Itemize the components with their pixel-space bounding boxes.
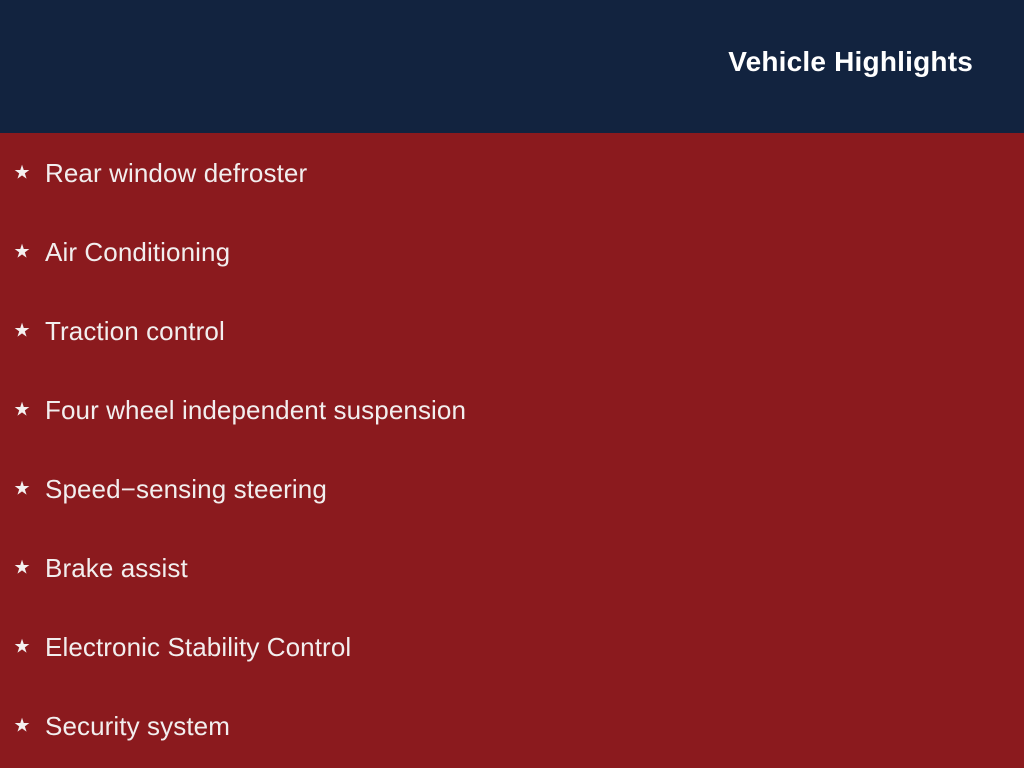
star-icon: ★	[12, 400, 32, 419]
list-item: ★ Traction control	[0, 291, 1024, 370]
list-item-label: Four wheel independent suspension	[45, 394, 466, 426]
list-item: ★ Rear window defroster	[0, 133, 1024, 212]
star-icon: ★	[12, 321, 32, 340]
list-item-label: Air Conditioning	[45, 236, 230, 268]
star-icon: ★	[12, 558, 32, 577]
star-icon: ★	[12, 637, 32, 656]
star-icon: ★	[12, 163, 32, 182]
list-item: ★ Brake assist	[0, 528, 1024, 607]
star-icon: ★	[12, 242, 32, 261]
slide-canvas: Vehicle Highlights ★ Rear window defrost…	[0, 0, 1024, 768]
list-item: ★ Speed−sensing steering	[0, 449, 1024, 528]
list-item: ★ Electronic Stability Control	[0, 607, 1024, 686]
list-item: ★ Air Conditioning	[0, 212, 1024, 291]
list-item-label: Speed−sensing steering	[45, 473, 327, 505]
list-item-label: Traction control	[45, 315, 225, 347]
list-item: ★ Four wheel independent suspension	[0, 370, 1024, 449]
list-item: ★ Security system	[0, 686, 1024, 765]
star-icon: ★	[12, 716, 32, 735]
list-item-label: Electronic Stability Control	[45, 631, 351, 663]
list-item-label: Security system	[45, 710, 230, 742]
slide-header-band: Vehicle Highlights	[0, 0, 1024, 133]
list-item-label: Rear window defroster	[45, 157, 307, 189]
list-item-label: Brake assist	[45, 552, 188, 584]
star-icon: ★	[12, 479, 32, 498]
vehicle-highlights-list: ★ Rear window defroster ★ Air Conditioni…	[0, 133, 1024, 765]
page-title: Vehicle Highlights	[728, 45, 973, 79]
